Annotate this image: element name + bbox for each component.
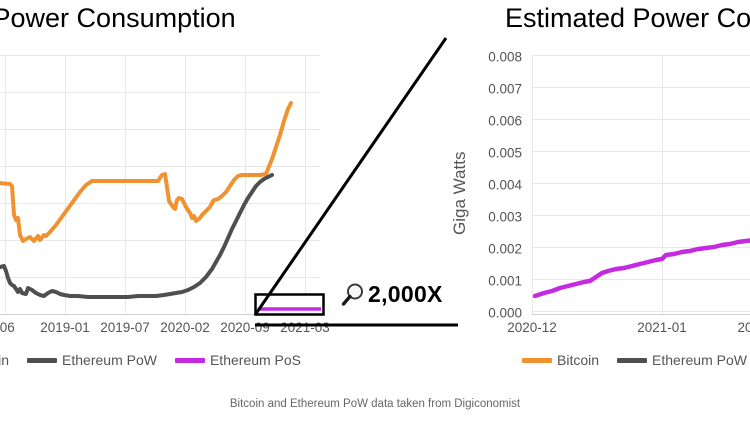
legend-label-ethereum-pow: Ethereum PoW	[62, 352, 157, 368]
magnifier-zoom-factor-label: 2,000X	[368, 281, 443, 308]
x-tick-label: 2020-12	[507, 320, 557, 335]
legend-item-ethereum-pos[interactable]: Ethereum PoS	[175, 352, 301, 368]
legend-swatch-ethereum-pow	[27, 358, 57, 363]
y-tick-label: 0.000	[472, 306, 522, 321]
x-tick-label: 2021-01	[637, 320, 687, 335]
connector-line-top	[255, 38, 446, 315]
legend-label-ethereum-pos: Ethereum PoS	[210, 352, 301, 368]
legend-swatch-bitcoin	[522, 358, 552, 363]
x-tick-label: 20	[737, 320, 750, 335]
right-chart-legend: Bitcoin Ethereum PoW	[522, 352, 750, 368]
right-y-axis-label: Giga Watts	[450, 152, 470, 235]
dashboard-root: d Power Consumption Estimated Power Co	[0, 0, 750, 430]
magnifying-glass-icon	[340, 282, 366, 308]
y-tick-label: 0.004	[472, 178, 522, 193]
right-chart-panel: Giga Watts 0.008 0.007 0.006 0.005 0.004…	[440, 0, 750, 345]
legend-item-bitcoin[interactable]: Bitcoin	[0, 352, 9, 368]
x-tick-label: -06	[0, 320, 15, 335]
series-ethereum-pos-line	[535, 232, 750, 296]
legend-label-ethereum-pow: Ethereum PoW	[652, 352, 747, 368]
right-chart-series	[532, 55, 750, 315]
y-tick-label: 0.003	[472, 210, 522, 225]
legend-item-ethereum-pow[interactable]: Ethereum PoW	[27, 352, 157, 368]
x-tick-label: 2019-01	[40, 320, 90, 335]
legend-label-bitcoin: Bitcoin	[0, 352, 9, 368]
legend-swatch-ethereum-pos	[175, 358, 205, 363]
y-tick-label: 0.005	[472, 146, 522, 161]
y-tick-label: 0.007	[472, 82, 522, 97]
series-bitcoin-line	[0, 103, 291, 241]
right-x-axis-line	[532, 314, 750, 315]
y-tick-label: 0.002	[472, 242, 522, 257]
legend-label-bitcoin: Bitcoin	[557, 352, 599, 368]
legend-item-bitcoin[interactable]: Bitcoin	[522, 352, 599, 368]
x-tick-label: 2020-02	[160, 320, 210, 335]
x-tick-label: 2019-07	[100, 320, 150, 335]
left-chart-legend: Bitcoin Ethereum PoW Ethereum PoS	[0, 352, 301, 368]
y-tick-label: 0.001	[472, 274, 522, 289]
legend-item-ethereum-pow[interactable]: Ethereum PoW	[617, 352, 747, 368]
y-tick-label: 0.006	[472, 114, 522, 129]
legend-swatch-ethereum-pow	[617, 358, 647, 363]
right-plot-area	[532, 55, 750, 315]
y-tick-label: 0.008	[472, 50, 522, 65]
source-note: Bitcoin and Ethereum PoW data taken from…	[0, 398, 750, 410]
